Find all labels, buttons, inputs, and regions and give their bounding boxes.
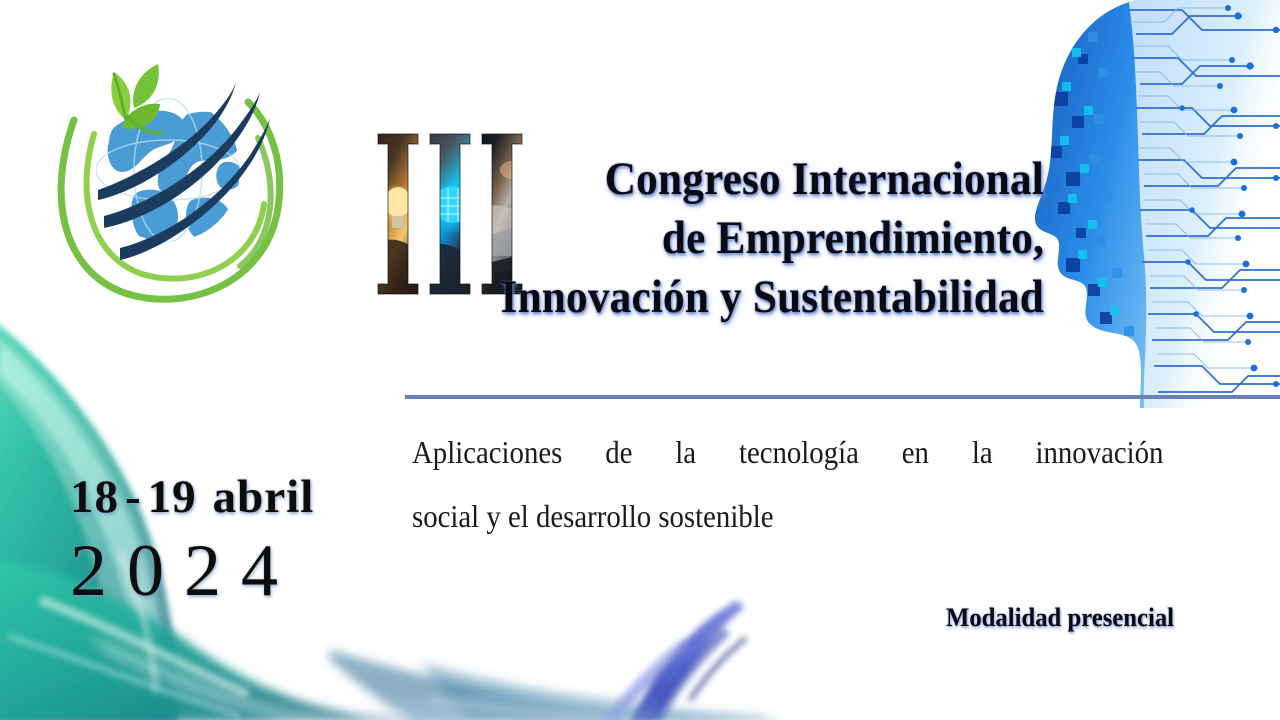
subtitle-word: tecnología xyxy=(739,420,859,484)
event-date: 18-19abril 2024 xyxy=(70,470,400,614)
subtitle-word: de xyxy=(605,420,632,484)
event-date-days: 18-19abril xyxy=(70,470,400,524)
subtitle-line-1: Aplicaciones de la tecnología en la inno… xyxy=(412,420,1164,484)
title-line-3: Innovación y Sustentabilidad xyxy=(455,268,1044,327)
subtitle-word: la xyxy=(972,420,993,484)
day-start: 18 xyxy=(70,471,119,523)
event-year: 2024 xyxy=(70,528,400,614)
congress-subtitle: Aplicaciones de la tecnología en la inno… xyxy=(412,420,1172,548)
subtitle-word: la xyxy=(675,420,696,484)
congress-poster: Congreso Internacional de Emprendimiento… xyxy=(0,0,1280,720)
subtitle-word: Aplicaciones xyxy=(412,420,562,484)
congress-title: Congreso Internacional de Emprendimiento… xyxy=(404,150,1044,327)
day-separator: - xyxy=(119,471,148,523)
circuit-head-icon xyxy=(1032,0,1280,408)
event-month: abril xyxy=(197,471,315,523)
bottom-haze xyxy=(370,696,670,720)
day-end: 19 xyxy=(148,471,197,523)
globe-leaf-logo xyxy=(42,42,294,304)
blue-brush-stroke xyxy=(600,600,746,720)
subtitle-word: en xyxy=(902,420,929,484)
subtitle-word: innovación xyxy=(1035,420,1163,484)
title-line-2: de Emprendimiento, xyxy=(455,209,1044,268)
head-pixel-mass xyxy=(1032,0,1280,408)
modality-label: Modalidad presencial xyxy=(946,603,1174,633)
subtitle-line-2: social y el desarrollo sostenible xyxy=(412,484,1096,548)
title-line-1: Congreso Internacional xyxy=(455,150,1044,209)
title-divider xyxy=(405,395,1280,399)
